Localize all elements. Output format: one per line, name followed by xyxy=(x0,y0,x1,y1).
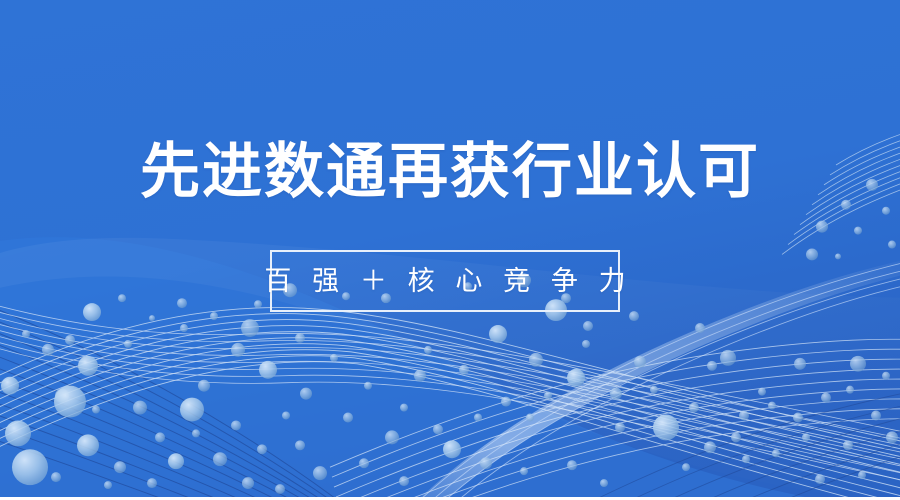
banner-content: 先进数通再获行业认可 百 强 ＋ 核 心 竞 争 力 xyxy=(0,0,900,497)
page-title: 先进数通再获行业认可 xyxy=(0,136,900,208)
subtitle-text: 百 强 ＋ 核 心 竞 争 力 xyxy=(257,266,632,296)
subtitle-badge: 百 强 ＋ 核 心 竞 争 力 xyxy=(270,250,620,312)
promo-banner: 先进数通再获行业认可 百 强 ＋ 核 心 竞 争 力 xyxy=(0,0,900,500)
